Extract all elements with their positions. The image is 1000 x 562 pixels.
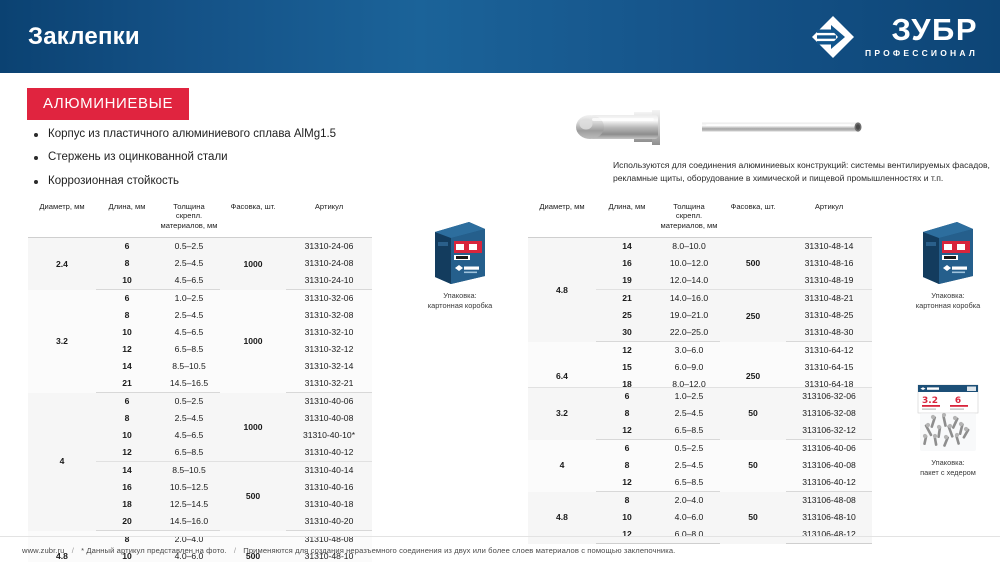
cell-thickness: 4.5–6.5 <box>158 272 220 290</box>
cell-article: 31310-40-12 <box>286 444 372 462</box>
footer-usage-note: Применяются для создания неразъемного со… <box>243 546 675 555</box>
cell-length: 6 <box>596 388 658 406</box>
packaging-figure-bag: 3.2 6 <box>896 383 1000 478</box>
cell-article: 31310-40-20 <box>286 513 372 531</box>
cell-article: 313106-48-08 <box>786 492 872 510</box>
category-badge: АЛЮМИНИЕВЫЕ <box>27 88 189 120</box>
cell-thickness: 2.0–4.0 <box>658 492 720 510</box>
cell-article: 31310-32-21 <box>286 375 372 393</box>
cell-length: 16 <box>96 479 158 496</box>
cell-thickness: 14.5–16.5 <box>158 375 220 393</box>
cell-thickness: 0.5–2.5 <box>158 393 220 411</box>
cell-diameter: 2.4 <box>28 238 96 290</box>
table-right-bottom: 3.2 6 1.0–2.5 50 313106-32-06 8 2.5–4.5 … <box>528 387 872 544</box>
cell-length: 10 <box>96 324 158 341</box>
cell-length: 12 <box>596 422 658 440</box>
cell-diameter: 4 <box>28 393 96 531</box>
cell-article: 31310-40-14 <box>286 462 372 480</box>
col-header-article: Артикул <box>786 198 872 238</box>
cell-length: 6 <box>96 393 158 411</box>
cell-length: 12 <box>596 526 658 544</box>
cell-thickness: 0.5–2.5 <box>658 440 720 458</box>
feature-text: Стержень из оцинкованной стали <box>48 150 228 164</box>
cell-article: 31310-40-06 <box>286 393 372 411</box>
cell-article: 31310-40-08 <box>286 410 372 427</box>
cell-length: 12 <box>596 342 658 360</box>
cardboard-box-image <box>429 218 491 286</box>
cell-diameter: 3.2 <box>28 290 96 393</box>
cell-thickness: 8.0–10.0 <box>658 238 720 256</box>
feature-list: Корпус из пластичного алюминиевого сплав… <box>30 127 410 197</box>
cell-length: 8 <box>96 410 158 427</box>
cell-article: 31310-32-06 <box>286 290 372 308</box>
cell-length: 18 <box>96 496 158 513</box>
cell-thickness: 8.5–10.5 <box>158 358 220 375</box>
cell-thickness: 2.5–4.5 <box>158 410 220 427</box>
cell-article: 31310-48-14 <box>786 238 872 256</box>
cell-article: 31310-40-16 <box>286 479 372 496</box>
cell-length: 15 <box>596 359 658 376</box>
col-header-thickness-line1: Толщина скрепл. <box>173 202 204 220</box>
cell-thickness: 6.0–9.0 <box>658 359 720 376</box>
rivet-product-photo <box>556 104 886 152</box>
table-row: 2.4 6 0.5–2.5 1000 31310-24-06 <box>28 238 372 256</box>
cell-length: 8 <box>596 457 658 474</box>
packaging-caption-line2: пакет с хедером <box>920 468 976 477</box>
cell-article: 31310-40-18 <box>286 496 372 513</box>
svg-text:6: 6 <box>955 396 961 406</box>
cell-diameter: 3.2 <box>528 388 596 440</box>
col-header-article: Артикул <box>286 198 372 238</box>
cell-length: 8 <box>96 307 158 324</box>
cell-length: 6 <box>96 238 158 256</box>
packaging-caption-line1: Упаковка: <box>931 458 964 467</box>
cell-thickness: 6.5–8.5 <box>158 444 220 462</box>
col-header-diameter: Диаметр, мм <box>28 198 96 238</box>
table-row: 4.8 14 8.0–10.0 500 31310-48-14 <box>528 238 872 256</box>
cell-pack: 1000 <box>220 238 286 290</box>
cell-article: 31310-32-12 <box>286 341 372 358</box>
cell-diameter: 4 <box>528 440 596 492</box>
zubr-diamond-icon <box>811 15 855 59</box>
cell-thickness: 4.0–6.0 <box>658 509 720 526</box>
packaging-caption: Упаковка: картонная коробка <box>896 291 1000 311</box>
cell-article: 31310-24-10 <box>286 272 372 290</box>
table-header-row: Диаметр, мм Длина, мм Толщина скрепл. ма… <box>528 198 872 238</box>
col-header-length: Длина, мм <box>96 198 158 238</box>
cell-thickness: 2.5–4.5 <box>658 405 720 422</box>
col-header-pack: Фасовка, шт. <box>720 198 786 238</box>
cell-length: 10 <box>596 509 658 526</box>
cell-thickness: 0.5–2.5 <box>158 238 220 256</box>
cell-thickness: 2.5–4.5 <box>158 255 220 272</box>
cell-article: 313106-32-12 <box>786 422 872 440</box>
col-header-diameter: Диаметр, мм <box>528 198 596 238</box>
cell-thickness: 10.5–12.5 <box>158 479 220 496</box>
brand-name: ЗУБР <box>892 15 978 44</box>
header-bag-image: 3.2 6 <box>910 383 986 453</box>
brand-logo: ЗУБР ПРОФЕССИОНАЛ <box>811 15 978 59</box>
cell-thickness: 10.0–12.0 <box>658 255 720 272</box>
cardboard-box-image <box>917 218 979 286</box>
cell-article: 31310-48-30 <box>786 324 872 342</box>
cell-length: 30 <box>596 324 658 342</box>
footer-separator: / <box>229 546 241 555</box>
cell-thickness: 6.5–8.5 <box>658 422 720 440</box>
cell-pack: 500 <box>220 462 286 531</box>
cell-length: 8 <box>596 492 658 510</box>
cell-thickness: 12.5–14.5 <box>158 496 220 513</box>
packaging-caption-line2: картонная коробка <box>428 301 493 310</box>
footer-note: www.zubr.ru / * Данный артикул представл… <box>22 546 675 555</box>
cell-thickness: 4.5–6.5 <box>158 427 220 444</box>
cell-pack: 250 <box>720 290 786 342</box>
cell-article: 313106-48-10 <box>786 509 872 526</box>
cell-article: 31310-48-25 <box>786 307 872 324</box>
catalog-page: Заклепки ЗУБР ПРОФЕССИОНАЛ АЛЮМИНИЕВЫЕ <box>0 0 1000 562</box>
cell-article: 313106-40-12 <box>786 474 872 492</box>
table-row: 3.2 6 1.0–2.5 50 313106-32-06 <box>528 388 872 406</box>
bullet-dot-icon <box>34 156 38 160</box>
cell-thickness: 6.5–8.5 <box>658 474 720 492</box>
cell-length: 19 <box>596 272 658 290</box>
cell-length: 8 <box>596 405 658 422</box>
cell-thickness: 1.0–2.5 <box>158 290 220 308</box>
cell-length: 16 <box>596 255 658 272</box>
cell-thickness: 3.0–6.0 <box>658 342 720 360</box>
packaging-caption-line1: Упаковка: <box>931 291 964 300</box>
table-row: 4 6 0.5–2.5 50 313106-40-06 <box>528 440 872 458</box>
cell-thickness: 19.0–21.0 <box>658 307 720 324</box>
cell-length: 10 <box>96 272 158 290</box>
cell-length: 6 <box>96 290 158 308</box>
cell-length: 14 <box>96 462 158 480</box>
cell-pack: 1000 <box>220 290 286 393</box>
cell-article: 313106-48-12 <box>786 526 872 544</box>
footer-asterisk-note: * Данный артикул представлен на фото. <box>81 546 227 555</box>
cell-pack: 1000 <box>220 393 286 462</box>
packaging-caption-line2: картонная коробка <box>916 301 981 310</box>
packaging-caption-line1: Упаковка: <box>443 291 476 300</box>
cell-thickness: 8.5–10.5 <box>158 462 220 480</box>
cell-thickness: 22.0–25.0 <box>658 324 720 342</box>
table-row: 4.8 8 2.0–4.0 50 313106-48-08 <box>528 492 872 510</box>
bullet-dot-icon <box>34 180 38 184</box>
cell-thickness: 2.5–4.5 <box>658 457 720 474</box>
cell-article: 31310-24-08 <box>286 255 372 272</box>
cell-length: 21 <box>96 375 158 393</box>
cell-length: 21 <box>596 290 658 308</box>
cell-article: 313106-40-08 <box>786 457 872 474</box>
cell-length: 14 <box>596 238 658 256</box>
cell-article: 31310-64-15 <box>786 359 872 376</box>
cell-length: 12 <box>96 444 158 462</box>
cell-article: 31310-32-08 <box>286 307 372 324</box>
cell-article: 313106-32-06 <box>786 388 872 406</box>
cell-pack: 500 <box>720 238 786 290</box>
cell-article: 31310-48-19 <box>786 272 872 290</box>
cell-thickness: 4.5–6.5 <box>158 324 220 341</box>
cell-article: 31310-24-06 <box>286 238 372 256</box>
cell-thickness: 1.0–2.5 <box>658 388 720 406</box>
cell-article: 31310-64-12 <box>786 342 872 360</box>
table-row: 3.2 6 1.0–2.5 1000 31310-32-06 <box>28 290 372 308</box>
table-right-top: Диаметр, мм Длина, мм Толщина скрепл. ма… <box>528 198 872 411</box>
footer-website[interactable]: www.zubr.ru <box>22 546 64 555</box>
col-header-thickness-line1: Толщина скрепл. <box>673 202 704 220</box>
list-item: Коррозионная стойкость <box>30 174 410 188</box>
page-header: Заклепки ЗУБР ПРОФЕССИОНАЛ <box>0 0 1000 73</box>
footer-separator: / <box>67 546 79 555</box>
cell-thickness: 6.5–8.5 <box>158 341 220 358</box>
table-header-row: Диаметр, мм Длина, мм Толщина скрепл. ма… <box>28 198 372 238</box>
cell-diameter: 4.8 <box>528 238 596 342</box>
cell-article: 31310-48-16 <box>786 255 872 272</box>
col-header-thickness: Толщина скрепл. материалов, мм <box>658 198 720 238</box>
cell-article: 31310-40-10* <box>286 427 372 444</box>
cell-article: 31310-48-21 <box>786 290 872 308</box>
packaging-figure-box-right: Упаковка: картонная коробка <box>896 218 1000 311</box>
page-title: Заклепки <box>28 23 140 51</box>
cell-thickness: 14.5–16.0 <box>158 513 220 531</box>
cell-article: 313106-40-06 <box>786 440 872 458</box>
cell-article: 31310-32-10 <box>286 324 372 341</box>
list-item: Стержень из оцинкованной стали <box>30 150 410 164</box>
cell-thickness: 12.0–14.0 <box>658 272 720 290</box>
cell-length: 14 <box>96 358 158 375</box>
cell-article: 313106-32-08 <box>786 405 872 422</box>
cell-length: 6 <box>596 440 658 458</box>
feature-text: Корпус из пластичного алюминиевого сплав… <box>48 127 336 141</box>
cell-length: 20 <box>96 513 158 531</box>
list-item: Корпус из пластичного алюминиевого сплав… <box>30 127 410 141</box>
table-left: Диаметр, мм Длина, мм Толщина скрепл. ма… <box>28 198 372 562</box>
cell-thickness: 6.0–8.0 <box>658 526 720 544</box>
col-header-thickness: Толщина скрепл. материалов, мм <box>158 198 220 238</box>
table-row: 4 6 0.5–2.5 1000 31310-40-06 <box>28 393 372 411</box>
col-header-length: Длина, мм <box>596 198 658 238</box>
bullet-dot-icon <box>34 133 38 137</box>
cell-length: 12 <box>96 341 158 358</box>
cell-length: 10 <box>96 427 158 444</box>
feature-text: Коррозионная стойкость <box>48 174 179 188</box>
svg-text:3.2: 3.2 <box>922 396 938 406</box>
table-row: 6.4 12 3.0–6.0 250 31310-64-12 <box>528 342 872 360</box>
col-header-pack: Фасовка, шт. <box>220 198 286 238</box>
packaging-caption: Упаковка: пакет с хедером <box>896 458 1000 478</box>
cell-article: 31310-32-14 <box>286 358 372 375</box>
cell-thickness: 2.5–4.5 <box>158 307 220 324</box>
cell-length: 25 <box>596 307 658 324</box>
packaging-caption: Упаковка: картонная коробка <box>408 291 512 311</box>
cell-length: 8 <box>96 255 158 272</box>
product-description: Используются для соединения алюминиевых … <box>613 159 998 185</box>
cell-pack: 50 <box>720 388 786 440</box>
cell-thickness: 14.0–16.0 <box>658 290 720 308</box>
col-header-thickness-line2: материалов, мм <box>160 221 217 230</box>
col-header-thickness-line2: материалов, мм <box>660 221 717 230</box>
cell-pack: 50 <box>720 440 786 492</box>
packaging-figure-box-left: Упаковка: картонная коробка <box>408 218 512 311</box>
cell-length: 12 <box>596 474 658 492</box>
brand-subtitle: ПРОФЕССИОНАЛ <box>865 48 978 58</box>
footer-divider <box>0 536 1000 537</box>
